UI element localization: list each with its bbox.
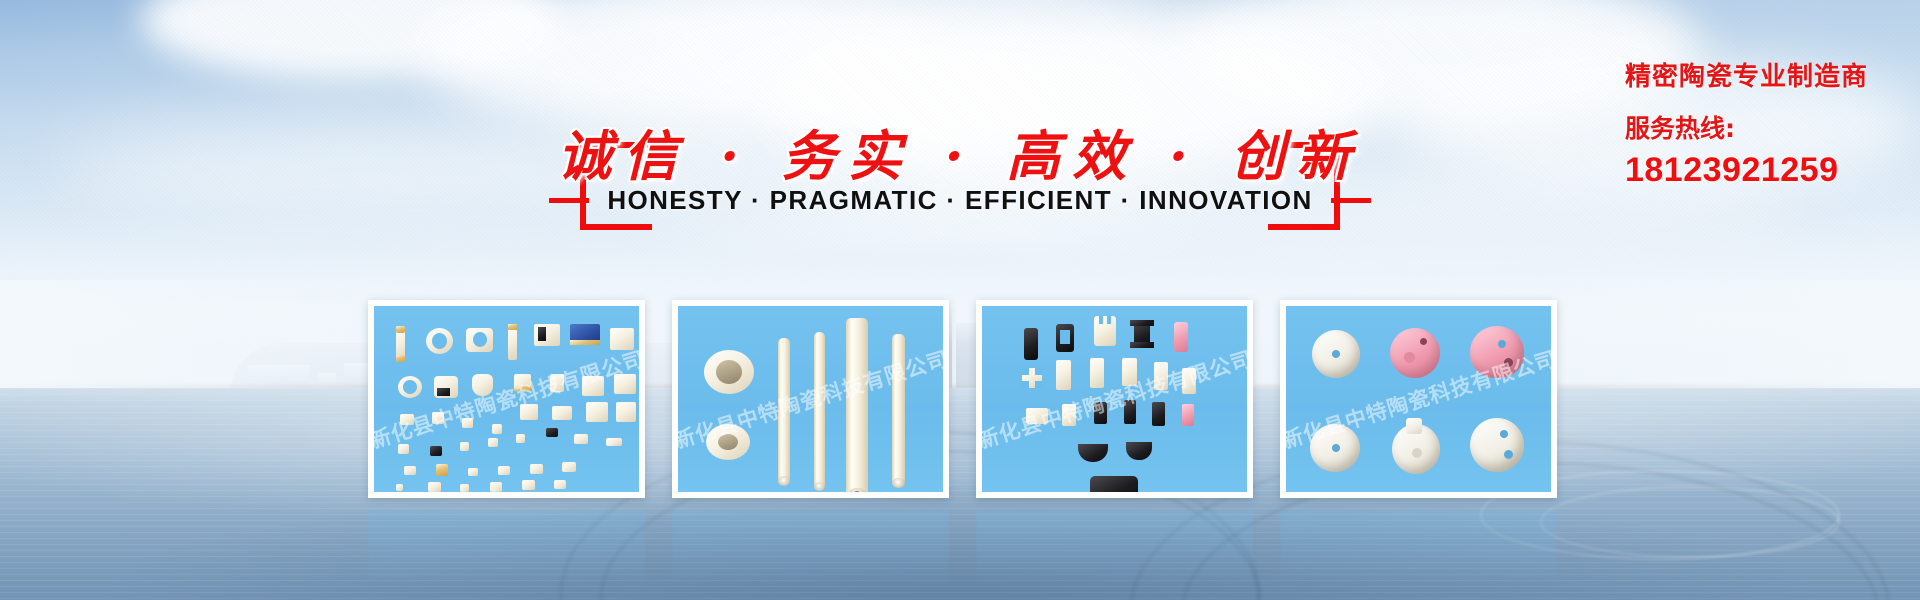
product-panel-2[interactable]: 新化县中特陶瓷科技有限公司 [672,300,949,498]
panel-reflection [976,510,1253,596]
product-gallery: 新化县中特陶瓷科技有限公司 新化县中特陶瓷科技有限公司 [0,300,1920,510]
panel-reflection [368,510,645,596]
panel-reflection [672,510,949,596]
product-panel-3[interactable]: 新化县中特陶瓷科技有限公司 [976,300,1253,498]
company-tagline: 精密陶瓷专业制造商 [1625,56,1868,93]
panel-reflection [1280,510,1557,596]
product-image-4: 新化县中特陶瓷科技有限公司 [1286,306,1551,492]
product-panel-1[interactable]: 新化县中特陶瓷科技有限公司 [368,300,645,498]
product-image-3: 新化县中特陶瓷科技有限公司 [982,306,1247,492]
product-image-1: 新化县中特陶瓷科技有限公司 [374,306,639,492]
watermark-1: 新化县中特陶瓷科技有限公司 [374,343,639,455]
hotline-label: 服务热线: [1625,109,1868,145]
hotline-number[interactable]: 18123921259 [1625,151,1868,190]
product-image-2: 新化县中特陶瓷科技有限公司 [678,306,943,492]
slogan-english: HONESTY · PRAGMATIC · EFFICIENT · INNOVA… [607,185,1312,216]
contact-block: 精密陶瓷专业制造商 服务热线: 18123921259 [1625,56,1868,190]
banner-stage: 诚信 · 务实 · 高效 · 创新 HONESTY · PRAGMATIC · … [0,0,1920,600]
dash-right-icon [1331,198,1371,203]
product-panel-4[interactable]: 新化县中特陶瓷科技有限公司 [1280,300,1557,498]
dash-left-icon [549,198,589,203]
watermark-3: 新化县中特陶瓷科技有限公司 [982,343,1247,455]
